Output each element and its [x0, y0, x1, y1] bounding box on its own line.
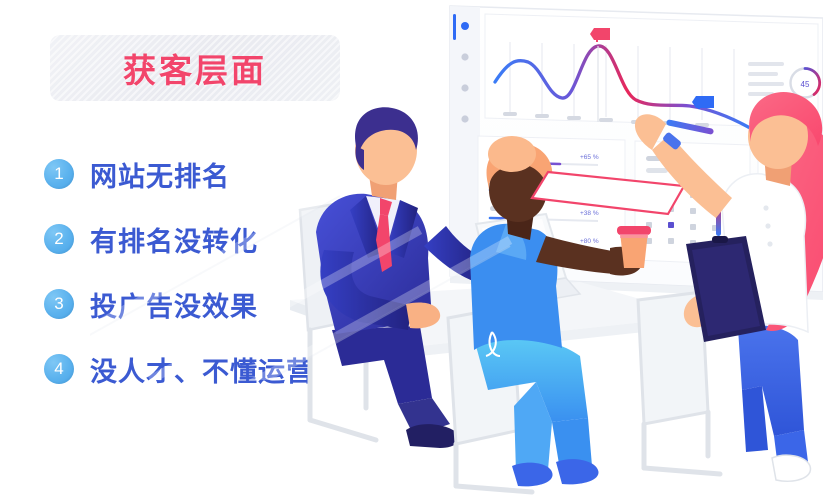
gauge-widget: 45 — [791, 68, 820, 97]
sidebar-active-indicator — [453, 14, 456, 40]
man-legs — [332, 326, 432, 404]
list-number-badge: 1 — [44, 159, 74, 189]
man-shoe — [406, 424, 459, 448]
office-scene-illustration: 45 +65 % +19 — [280, 0, 823, 500]
list-number-badge: 4 — [44, 354, 74, 384]
sidebar-dot — [461, 84, 468, 91]
sidebar-dot — [461, 115, 468, 122]
progress-value: +65 % — [580, 154, 599, 161]
list-item-label: 网站无排名 — [90, 155, 230, 194]
progress-value: +38 % — [580, 210, 599, 217]
sidebar-dot — [461, 53, 468, 60]
seated-shoe — [556, 459, 599, 484]
sidebar-dot-active — [461, 22, 469, 30]
dashboard-sidebar — [450, 6, 480, 277]
list-item-label: 投广告没效果 — [90, 285, 258, 324]
list-number-badge: 2 — [44, 224, 74, 254]
woman-shoe — [772, 455, 811, 481]
list-item-label: 有排名没转化 — [90, 220, 258, 259]
slide-canvas: 获客层面 1 网站无排名 2 有排名没转化 3 投广告没效果 4 没人才、不懂运… — [0, 0, 823, 500]
page-title: 获客层面 — [123, 44, 267, 92]
gauge-value: 45 — [801, 80, 810, 89]
list-number-badge: 3 — [44, 289, 74, 319]
progress-value: +80 % — [580, 238, 599, 245]
